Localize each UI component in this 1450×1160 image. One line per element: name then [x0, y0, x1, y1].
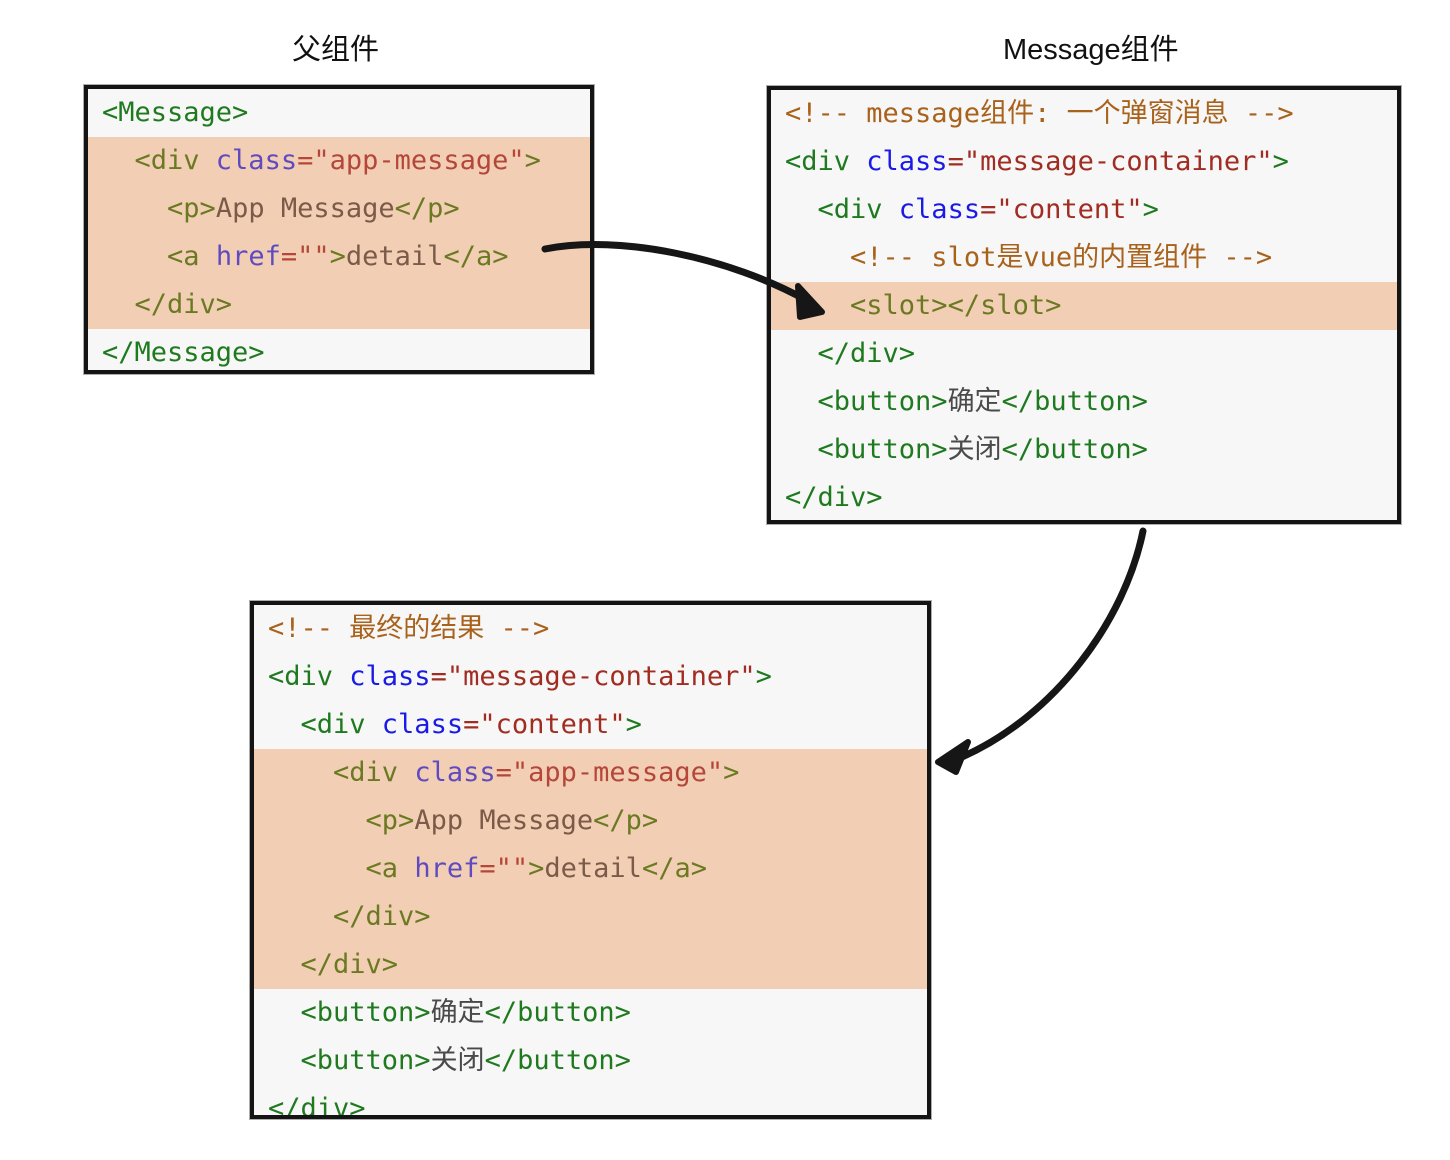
- code-line: </div>: [254, 941, 927, 989]
- code-line: <button>关闭</button>: [771, 426, 1397, 474]
- code-token: <div: [785, 146, 866, 177]
- code-token: [268, 997, 301, 1028]
- code-token: </button>: [1002, 386, 1148, 417]
- code-token: [268, 853, 366, 884]
- panel-title-message: Message组件: [1003, 26, 1179, 68]
- code-token: <button>: [818, 386, 948, 417]
- message-code-block: <!-- message组件: 一个弹窗消息 --><div class="me…: [771, 90, 1397, 520]
- code-line: <!-- slot是vue的内置组件 -->: [771, 234, 1397, 282]
- code-token: ="content": [463, 709, 626, 740]
- code-token: </button>: [485, 1045, 631, 1076]
- code-line: <Message>: [88, 89, 590, 137]
- code-token: </button>: [485, 997, 631, 1028]
- code-line: </div>: [254, 893, 927, 941]
- code-line: <a href="">detail</a>: [88, 233, 590, 281]
- code-token: <Message>: [102, 97, 248, 128]
- code-token: detail: [346, 241, 444, 272]
- code-token: ="app-message": [297, 145, 525, 176]
- code-token: </a>: [642, 853, 707, 884]
- code-line: </div>: [771, 474, 1397, 522]
- code-token: [785, 194, 818, 225]
- code-token: </Message>: [102, 337, 265, 368]
- code-token: <!-- message组件: 一个弹窗消息 -->: [785, 98, 1294, 129]
- code-token: [102, 241, 167, 272]
- message-component-code-panel: <!-- message组件: 一个弹窗消息 --><div class="me…: [767, 86, 1401, 524]
- code-token: >: [330, 241, 346, 272]
- code-token: </div>: [301, 949, 399, 980]
- code-token: <button>: [818, 434, 948, 465]
- parent-code-block: <Message> <div class="app-message"> <p>A…: [88, 89, 590, 370]
- code-token: >: [756, 661, 772, 692]
- code-token: [785, 386, 818, 417]
- code-token: ="app-message": [496, 757, 724, 788]
- diagram-canvas: 父组件 Message组件 <Message> <div class="app-…: [0, 0, 1450, 1160]
- code-token: </div>: [268, 1093, 366, 1119]
- code-token: <div: [135, 145, 216, 176]
- code-token: >: [626, 709, 642, 740]
- code-token: [268, 757, 333, 788]
- panel-title-parent: 父组件: [292, 26, 379, 68]
- code-token: >: [528, 853, 544, 884]
- code-token: ="": [479, 853, 528, 884]
- code-token: [102, 145, 135, 176]
- code-token: </div>: [818, 338, 916, 369]
- code-token: 关闭: [948, 434, 1002, 465]
- code-token: </div>: [333, 901, 431, 932]
- result-code-block: <!-- 最终的结果 --><div class="message-contai…: [254, 605, 927, 1115]
- code-token: App Message: [216, 193, 395, 224]
- code-token: </a>: [443, 241, 508, 272]
- code-token: <button>: [301, 1045, 431, 1076]
- code-token: >: [525, 145, 541, 176]
- code-token: <p>: [366, 805, 415, 836]
- code-line: <button>确定</button>: [771, 378, 1397, 426]
- code-token: <div: [333, 757, 414, 788]
- code-line: <button>关闭</button>: [254, 1037, 927, 1085]
- code-token: class: [899, 194, 980, 225]
- code-line: <a href="">detail</a>: [254, 845, 927, 893]
- code-token: <div: [818, 194, 899, 225]
- code-line: <div class="message-container">: [254, 653, 927, 701]
- code-line: <button>确定</button>: [254, 989, 927, 1037]
- code-line: </div>: [88, 281, 590, 329]
- code-token: class: [866, 146, 947, 177]
- code-line: <div class="content">: [771, 186, 1397, 234]
- code-line: <div class="app-message">: [88, 137, 590, 185]
- code-token: <button>: [301, 997, 431, 1028]
- code-token: >: [1273, 146, 1289, 177]
- code-token: <!-- 最终的结果 -->: [268, 613, 549, 644]
- code-token: href: [414, 853, 479, 884]
- code-token: <slot></slot>: [850, 290, 1061, 321]
- code-token: ="": [281, 241, 330, 272]
- code-token: detail: [544, 853, 642, 884]
- code-token: </div>: [135, 289, 233, 320]
- code-token: [785, 290, 850, 321]
- render-result-arrow: [938, 531, 1143, 772]
- code-line: </div>: [771, 330, 1397, 378]
- code-token: [785, 434, 818, 465]
- parent-component-code-panel: <Message> <div class="app-message"> <p>A…: [84, 85, 594, 374]
- code-token: [268, 949, 301, 980]
- code-token: <!-- slot是vue的内置组件 -->: [850, 242, 1272, 273]
- code-token: </button>: [1002, 434, 1148, 465]
- code-token: [268, 901, 333, 932]
- code-token: class: [414, 757, 495, 788]
- code-token: [102, 193, 167, 224]
- code-token: <a: [167, 241, 216, 272]
- code-token: </p>: [593, 805, 658, 836]
- code-token: 确定: [431, 997, 485, 1028]
- code-token: [102, 289, 135, 320]
- code-token: <div: [301, 709, 382, 740]
- code-line: <div class="app-message">: [254, 749, 927, 797]
- code-token: <p>: [167, 193, 216, 224]
- code-token: <a: [366, 853, 415, 884]
- code-token: [785, 242, 850, 273]
- code-token: [268, 709, 301, 740]
- code-token: class: [382, 709, 463, 740]
- code-line: <div class="message-container">: [771, 138, 1397, 186]
- code-token: class: [216, 145, 297, 176]
- code-token: </p>: [395, 193, 460, 224]
- code-token: App Message: [414, 805, 593, 836]
- code-token: >: [723, 757, 739, 788]
- code-token: [268, 805, 366, 836]
- result-code-panel: <!-- 最终的结果 --><div class="message-contai…: [250, 601, 931, 1119]
- code-line: <!-- 最终的结果 -->: [254, 605, 927, 653]
- code-token: <div: [268, 661, 349, 692]
- code-token: [268, 1045, 301, 1076]
- arrow-head-icon: [938, 742, 968, 772]
- code-line: <p>App Message</p>: [88, 185, 590, 233]
- code-token: [785, 338, 818, 369]
- code-token: ="content": [980, 194, 1143, 225]
- code-line: <!-- message组件: 一个弹窗消息 -->: [771, 90, 1397, 138]
- code-line: <p>App Message</p>: [254, 797, 927, 845]
- code-token: ="message-container": [431, 661, 756, 692]
- code-line: <slot></slot>: [771, 282, 1397, 330]
- code-token: </div>: [785, 482, 883, 513]
- code-line: </div>: [254, 1085, 927, 1119]
- code-line: </Message>: [88, 329, 590, 374]
- code-token: 关闭: [431, 1045, 485, 1076]
- code-token: class: [349, 661, 430, 692]
- code-token: 确定: [948, 386, 1002, 417]
- code-token: ="message-container": [948, 146, 1273, 177]
- code-line: <div class="content">: [254, 701, 927, 749]
- code-token: >: [1143, 194, 1159, 225]
- code-token: href: [216, 241, 281, 272]
